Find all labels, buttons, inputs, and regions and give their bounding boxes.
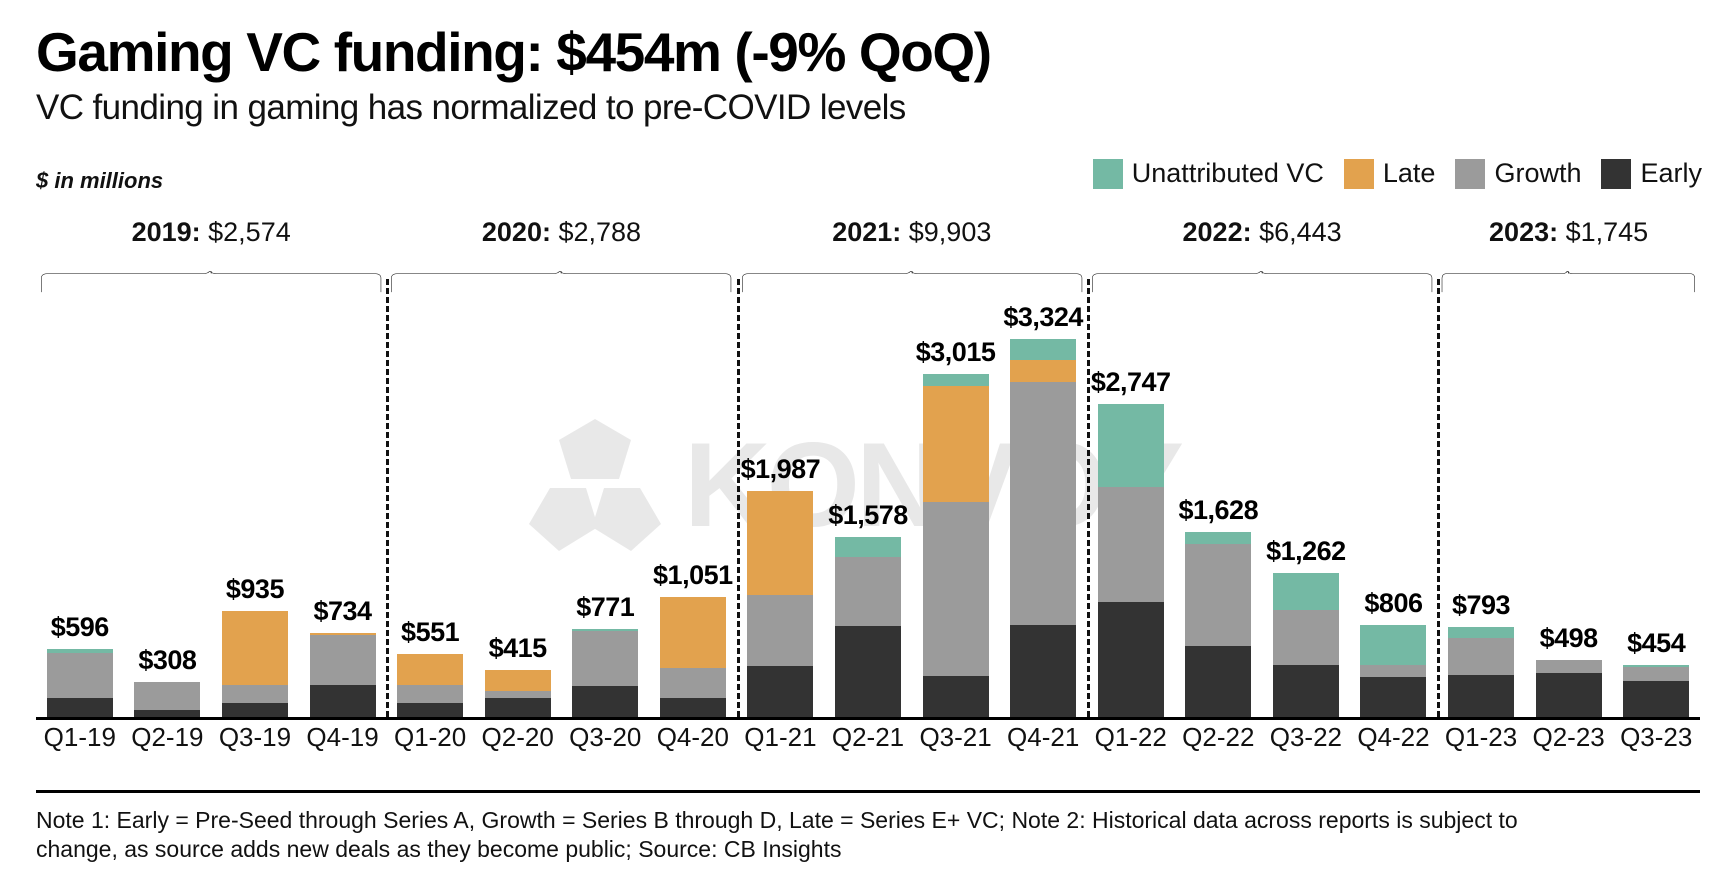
bar-segment-unattributed-vc[interactable]: [1273, 573, 1339, 610]
bar-segment-late[interactable]: [1010, 360, 1076, 383]
bar-segment-early[interactable]: [310, 685, 376, 717]
x-axis-tick-label: Q2-20: [474, 722, 562, 753]
bar-slot[interactable]: $1,628: [1175, 301, 1263, 717]
bar-segment-early[interactable]: [222, 703, 288, 717]
bar-segment-late[interactable]: [222, 611, 288, 686]
bar-slot[interactable]: $498: [1525, 301, 1613, 717]
bar-stack: [1360, 625, 1426, 717]
chart-legend: Unattributed VCLateGrowthEarly: [1093, 158, 1702, 189]
x-axis-tick-label: Q4-19: [299, 722, 387, 753]
x-axis-tick-label: Q3-23: [1612, 722, 1700, 753]
year-separator: [737, 279, 740, 717]
bar-stack: [397, 654, 463, 717]
bar-segment-unattributed-vc[interactable]: [1185, 532, 1251, 544]
x-axis-tick-label: Q4-22: [1350, 722, 1438, 753]
bar-segment-early[interactable]: [1448, 675, 1514, 717]
bar-segment-early[interactable]: [1536, 673, 1602, 717]
bar-segment-early[interactable]: [835, 626, 901, 717]
bar-segment-early[interactable]: [1623, 681, 1689, 717]
legend-label: Growth: [1494, 158, 1581, 189]
year-total-label: 2021: $9,903: [737, 217, 1087, 248]
bar-slot[interactable]: $1,987: [737, 301, 825, 717]
year-separator: [386, 279, 389, 717]
bar-segment-growth[interactable]: [1273, 610, 1339, 665]
bar-total-label: $1,262: [1266, 536, 1346, 567]
bar-total-label: $771: [576, 592, 634, 623]
bar-slot[interactable]: $551: [386, 301, 474, 717]
bar-segment-growth[interactable]: [835, 557, 901, 626]
bar-total-label: $935: [226, 574, 284, 605]
page-title: Gaming VC funding: $454m (-9% QoQ): [36, 20, 991, 84]
x-axis-tick-label: Q1-21: [737, 722, 825, 753]
bar-segment-growth[interactable]: [1098, 487, 1164, 602]
x-axis-tick-label: Q1-22: [1087, 722, 1175, 753]
legend-label: Unattributed VC: [1132, 158, 1324, 189]
bar-segment-growth[interactable]: [1448, 638, 1514, 674]
bar-segment-early[interactable]: [397, 703, 463, 717]
bar-slot[interactable]: $1,262: [1262, 301, 1350, 717]
bar-slot[interactable]: $935: [211, 301, 299, 717]
bar-segment-growth[interactable]: [47, 653, 113, 699]
legend-item-early[interactable]: Early: [1601, 158, 1702, 189]
bar-segment-growth[interactable]: [310, 635, 376, 685]
x-axis-tick-label: Q2-22: [1175, 722, 1263, 753]
bar-stack: [1010, 339, 1076, 717]
bar-segment-growth[interactable]: [134, 682, 200, 710]
x-axis-tick-label: Q3-21: [912, 722, 1000, 753]
bar-segment-late[interactable]: [747, 491, 813, 595]
x-axis-tick-label: Q3-22: [1262, 722, 1350, 753]
bar-stack: [1623, 665, 1689, 717]
legend-swatch-icon: [1344, 159, 1374, 189]
legend-item-growth[interactable]: Growth: [1455, 158, 1581, 189]
footer-divider: [36, 790, 1700, 793]
bar-segment-growth[interactable]: [222, 685, 288, 703]
year-separator: [1087, 279, 1090, 717]
bar-segment-early[interactable]: [134, 710, 200, 717]
bar-segment-unattributed-vc[interactable]: [1448, 627, 1514, 639]
bar-segment-early[interactable]: [1098, 602, 1164, 717]
year-total-label: 2023: $1,745: [1437, 217, 1700, 248]
legend-label: Late: [1383, 158, 1436, 189]
bar-segment-growth[interactable]: [660, 668, 726, 698]
bar-stack: [747, 491, 813, 717]
bar-stack: [1536, 660, 1602, 717]
bar-segment-early[interactable]: [47, 698, 113, 717]
bar-total-label: $734: [313, 596, 371, 627]
year-group-2019: 2019: $2,574: [36, 215, 386, 301]
bar-segment-growth[interactable]: [1185, 544, 1251, 646]
bar-segment-early[interactable]: [1185, 646, 1251, 717]
bar-segment-early[interactable]: [923, 676, 989, 717]
bar-total-label: $1,628: [1179, 495, 1259, 526]
bar-slot[interactable]: $3,324: [999, 301, 1087, 717]
year-separator: [1437, 279, 1440, 717]
plot-area: 2019: $2,5742020: $2,7882021: $9,9032022…: [36, 215, 1700, 720]
bar-segment-late[interactable]: [660, 597, 726, 668]
bar-slot[interactable]: $2,747: [1087, 301, 1175, 717]
year-group-2022: 2022: $6,443: [1087, 215, 1437, 301]
legend-swatch-icon: [1093, 159, 1123, 189]
bar-slot[interactable]: $596: [36, 301, 124, 717]
bar-segment-early[interactable]: [572, 686, 638, 717]
year-brace: [390, 271, 732, 293]
bar-segment-growth[interactable]: [572, 631, 638, 686]
bar-segment-late[interactable]: [397, 654, 463, 685]
bar-segment-early[interactable]: [1010, 625, 1076, 717]
x-axis-tick-label: Q3-19: [211, 722, 299, 753]
legend-label: Early: [1640, 158, 1702, 189]
legend-item-late[interactable]: Late: [1344, 158, 1436, 189]
bar-segment-growth[interactable]: [397, 685, 463, 703]
bar-slot[interactable]: $1,051: [649, 301, 737, 717]
units-label: $ in millions: [36, 168, 163, 194]
bar-segment-unattributed-vc[interactable]: [835, 537, 901, 556]
bar-total-label: $793: [1452, 590, 1510, 621]
bar-series: $596$308$935$734$551$415$771$1,051$1,987…: [36, 301, 1700, 717]
year-group-2023: 2023: $1,745: [1437, 215, 1700, 301]
bar-segment-growth[interactable]: [1623, 667, 1689, 681]
x-axis-tick-label: Q3-20: [561, 722, 649, 753]
bar-segment-early[interactable]: [660, 698, 726, 717]
x-axis-tick-label: Q2-21: [824, 722, 912, 753]
bar-slot[interactable]: $308: [124, 301, 212, 717]
x-axis-tick-label: Q2-19: [124, 722, 212, 753]
x-axis-labels: Q1-19Q2-19Q3-19Q4-19Q1-20Q2-20Q3-20Q4-20…: [36, 722, 1700, 753]
bar-stack: [1273, 573, 1339, 717]
year-brace: [1091, 271, 1433, 293]
bar-stack: [660, 597, 726, 717]
x-axis-tick-label: Q1-20: [386, 722, 474, 753]
bar-slot[interactable]: $793: [1437, 301, 1525, 717]
bar-segment-growth[interactable]: [1360, 665, 1426, 678]
bar-stack: [310, 633, 376, 717]
bar-slot[interactable]: $771: [561, 301, 649, 717]
x-axis-tick-label: Q4-20: [649, 722, 737, 753]
bar-segment-growth[interactable]: [1536, 660, 1602, 672]
year-group-2021: 2021: $9,903: [737, 215, 1087, 301]
bar-stack: [485, 670, 551, 717]
x-axis-tick-label: Q1-23: [1437, 722, 1525, 753]
bar-segment-growth[interactable]: [747, 595, 813, 666]
bar-stack: [222, 611, 288, 717]
bar-stack: [835, 537, 901, 717]
bar-segment-late[interactable]: [485, 670, 551, 692]
bar-total-label: $454: [1627, 628, 1685, 659]
x-axis-line: [36, 717, 1700, 720]
chart-page: Gaming VC funding: $454m (-9% QoQ) VC fu…: [0, 0, 1730, 878]
bar-total-label: $2,747: [1091, 367, 1171, 398]
bar-slot[interactable]: $734: [299, 301, 387, 717]
bar-total-label: $3,015: [916, 337, 996, 368]
bar-stack: [1185, 532, 1251, 717]
year-group-2020: 2020: $2,788: [386, 215, 736, 301]
year-total-label: 2019: $2,574: [36, 217, 386, 248]
bar-slot[interactable]: $1,578: [824, 301, 912, 717]
bar-total-label: $806: [1364, 588, 1422, 619]
bar-slot[interactable]: $806: [1350, 301, 1438, 717]
bar-segment-early[interactable]: [1273, 665, 1339, 717]
x-axis-tick-label: Q2-23: [1525, 722, 1613, 753]
x-axis-tick-label: Q1-19: [36, 722, 124, 753]
bar-slot[interactable]: $415: [474, 301, 562, 717]
bar-total-label: $308: [138, 645, 196, 676]
bar-segment-unattributed-vc[interactable]: [1098, 404, 1164, 487]
bar-segment-growth[interactable]: [923, 502, 989, 676]
year-total-label: 2020: $2,788: [386, 217, 736, 248]
year-brace: [741, 271, 1083, 293]
bar-total-label: $1,578: [828, 500, 908, 531]
legend-swatch-icon: [1455, 159, 1485, 189]
bar-segment-early[interactable]: [747, 666, 813, 717]
bar-slot[interactable]: $3,015: [912, 301, 1000, 717]
bar-segment-growth[interactable]: [1010, 382, 1076, 624]
bar-total-label: $415: [489, 633, 547, 664]
bar-segment-early[interactable]: [485, 698, 551, 717]
bar-total-label: $3,324: [1003, 302, 1083, 333]
bar-slot[interactable]: $454: [1612, 301, 1700, 717]
bar-segment-unattributed-vc[interactable]: [1360, 625, 1426, 664]
bar-stack: [47, 649, 113, 717]
legend-swatch-icon: [1601, 159, 1631, 189]
bar-stack: [572, 629, 638, 717]
bar-stack: [923, 374, 989, 717]
bar-segment-unattributed-vc[interactable]: [923, 374, 989, 386]
bar-total-label: $1,051: [653, 560, 733, 591]
bar-total-label: $596: [51, 612, 109, 643]
year-total-label: 2022: $6,443: [1087, 217, 1437, 248]
x-axis-tick-label: Q4-21: [999, 722, 1087, 753]
bar-segment-unattributed-vc[interactable]: [1010, 339, 1076, 360]
bar-total-label: $498: [1540, 623, 1598, 654]
page-subtitle: VC funding in gaming has normalized to p…: [36, 88, 906, 128]
bar-total-label: $1,987: [741, 454, 821, 485]
year-group-headers: 2019: $2,5742020: $2,7882021: $9,9032022…: [36, 215, 1700, 301]
bar-stack: [1098, 404, 1164, 717]
bar-stack: [134, 682, 200, 717]
year-brace: [1441, 271, 1696, 293]
legend-item-unattributed-vc[interactable]: Unattributed VC: [1093, 158, 1324, 189]
bar-segment-early[interactable]: [1360, 677, 1426, 717]
bar-stack: [1448, 627, 1514, 717]
bar-total-label: $551: [401, 617, 459, 648]
bar-segment-late[interactable]: [923, 386, 989, 502]
year-brace: [40, 271, 382, 293]
footer-note: Note 1: Early = Pre-Seed through Series …: [36, 806, 1596, 865]
